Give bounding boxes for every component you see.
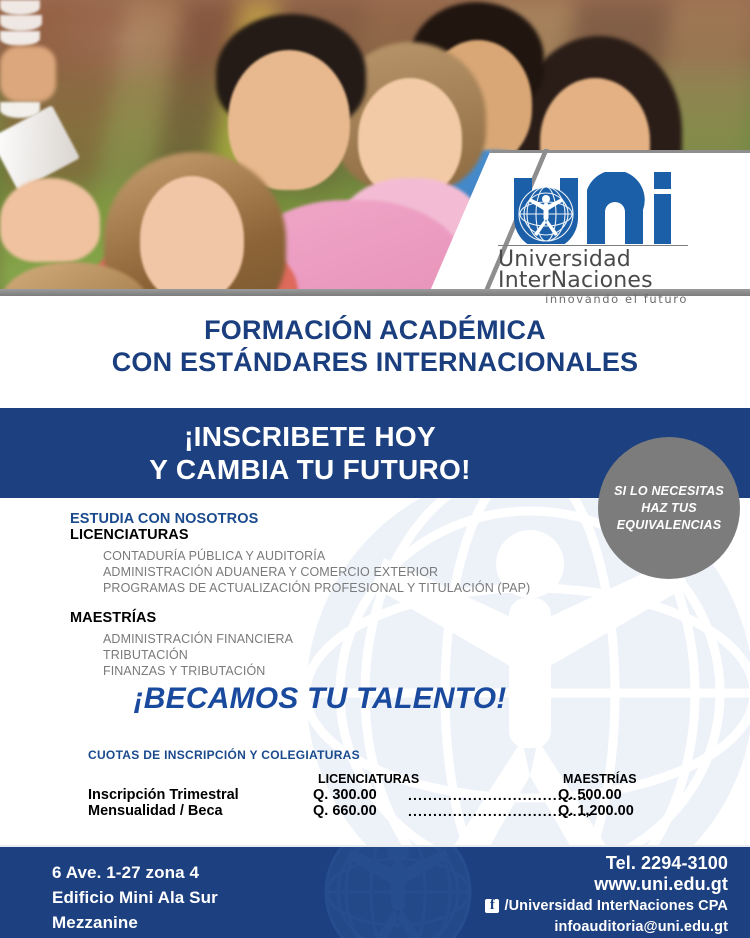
footer-address: 6 Ave. 1-27 zona 4 Edificio Mini Ala Sur… <box>52 860 218 935</box>
headline-line-2: CON ESTÁNDARES INTERNACIONALES <box>0 346 750 378</box>
student-2-neck <box>0 46 56 102</box>
logo-line-internaciones: InterNaciones <box>498 270 692 291</box>
badge-line-1: SI LO NECESITAS <box>614 483 724 500</box>
column-header-maestrias: MAESTRÍAS <box>563 772 637 786</box>
uni-logo-mark <box>492 172 692 244</box>
student-1-face <box>140 176 244 291</box>
facebook-icon <box>485 899 499 913</box>
fees-table: LICENCIATURAS MAESTRÍAS Inscripción Trim… <box>88 772 688 819</box>
list-item: PROGRAMAS DE ACTUALIZACIÓN PROFESIONAL Y… <box>103 580 530 596</box>
uni-logo: Universidad InterNaciones innovando el f… <box>492 172 692 306</box>
poster-root: Universidad InterNaciones innovando el f… <box>0 0 750 938</box>
maestrias-list: ADMINISTRACIÓN FINANCIERA TRIBUTACIÓN FI… <box>103 631 293 679</box>
table-row: Inscripción Trimestral Q. 300.00 .......… <box>88 787 688 803</box>
list-item: TRIBUTACIÓN <box>103 647 293 663</box>
fee-label: Mensualidad / Beca <box>88 803 223 819</box>
column-header-licenciaturas: LICENCIATURAS <box>318 772 419 786</box>
logo-divider <box>498 245 688 246</box>
list-item: ADMINISTRACIÓN ADUANERA Y COMERCIO EXTER… <box>103 564 530 580</box>
badge-line-2: HAZ TUS <box>641 500 697 517</box>
uni-wordmark-icon <box>492 172 692 244</box>
headline-line-1: FORMACIÓN ACADÉMICA <box>0 314 750 346</box>
estudia-con-nosotros-heading: ESTUDIA CON NOSOTROS <box>70 511 258 527</box>
footer-contact: Tel. 2294-3100 www.uni.edu.gt /Universid… <box>485 853 728 938</box>
logo-tagline: innovando el futuro <box>492 292 688 306</box>
footer-phone: Tel. 2294-3100 <box>485 853 728 874</box>
student-5-smile <box>0 0 40 15</box>
scholarship-slogan: ¡BECAMOS TU TALENTO! <box>0 682 640 716</box>
fee-licenciatura: Q. 660.00 <box>313 803 377 819</box>
fee-maestria: Q. 1,200.00 <box>558 803 634 819</box>
address-line-2: Edificio Mini Ala Sur <box>52 885 218 910</box>
fees-table-header: LICENCIATURAS MAESTRÍAS <box>88 772 688 787</box>
footer-facebook-label: /Universidad InterNaciones CPA <box>504 895 728 917</box>
maestrias-heading: MAESTRÍAS <box>70 610 156 626</box>
list-item: FINANZAS Y TRIBUTACIÓN <box>103 663 293 679</box>
fee-maestria: Q. 500.00 <box>558 787 622 803</box>
uni-logo-text: Universidad InterNaciones innovando el f… <box>492 249 692 306</box>
address-line-1: 6 Ave. 1-27 zona 4 <box>52 860 218 885</box>
fees-title: CUOTAS DE INSCRIPCIÓN Y COLEGIATURAS <box>88 748 360 762</box>
fee-label: Inscripción Trimestral <box>88 787 239 803</box>
fee-licenciatura: Q. 300.00 <box>313 787 377 803</box>
cta-line-1: ¡INSCRIBETE HOY <box>184 420 436 453</box>
licenciaturas-list: CONTADURÍA PÚBLICA Y AUDITORÍA ADMINISTR… <box>103 548 530 596</box>
address-line-3: Mezzanine <box>52 910 218 935</box>
logo-line-universidad: Universidad <box>498 249 692 270</box>
headline: FORMACIÓN ACADÉMICA CON ESTÁNDARES INTER… <box>0 314 750 378</box>
footer-top-divider <box>0 845 750 847</box>
student-2-thumbs-up <box>0 178 100 262</box>
student-3-smile <box>0 31 40 46</box>
footer-facebook[interactable]: /Universidad InterNaciones CPA <box>485 895 728 917</box>
list-item: CONTADURÍA PÚBLICA Y AUDITORÍA <box>103 548 530 564</box>
list-item: ADMINISTRACIÓN FINANCIERA <box>103 631 293 647</box>
footer-website[interactable]: www.uni.edu.gt <box>485 874 728 895</box>
equivalencias-badge: SI LO NECESITAS HAZ TUS EQUIVALENCIAS <box>598 437 740 579</box>
footer: 6 Ave. 1-27 zona 4 Edificio Mini Ala Sur… <box>0 845 750 938</box>
cta-line-2: Y CAMBIA TU FUTURO! <box>149 453 470 486</box>
footer-email[interactable]: infoauditoria@uni.edu.gt <box>485 917 728 938</box>
badge-line-3: EQUIVALENCIAS <box>617 517 721 534</box>
student-4-smile <box>0 15 42 31</box>
licenciaturas-heading: LICENCIATURAS <box>70 527 189 543</box>
cta-text: ¡INSCRIBETE HOY Y CAMBIA TU FUTURO! <box>0 408 620 498</box>
table-row: Mensualidad / Beca Q. 660.00 ...........… <box>88 803 688 819</box>
